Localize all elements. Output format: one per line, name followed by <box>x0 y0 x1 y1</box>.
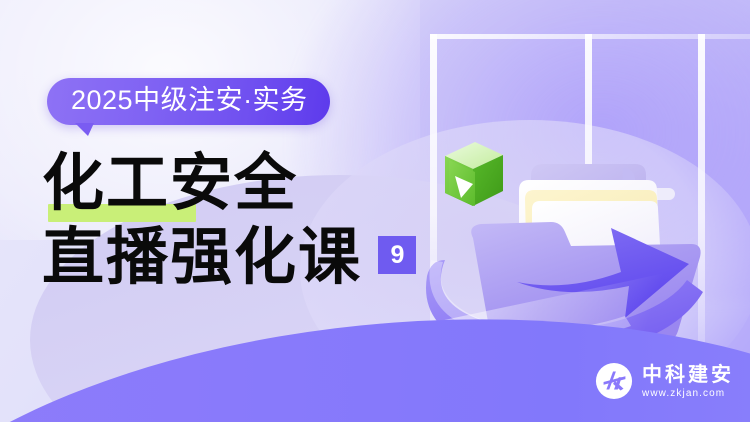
brand-logo-text: 中科建安 www.zkjan.com <box>642 364 734 399</box>
headline-block: 化工安全 直播强化课 9 <box>42 152 462 288</box>
episode-badge: 9 <box>378 236 416 274</box>
headline-row-1: 化工安全 <box>42 152 462 214</box>
course-illustration <box>415 110 735 345</box>
course-tag-label: 2025中级注安·实务 <box>71 85 308 115</box>
headline-line-2: 直播强化课 <box>42 226 362 288</box>
headline-row-2: 直播强化课 9 <box>42 226 462 288</box>
course-tag-pointer <box>75 123 94 136</box>
brand-logo[interactable]: 中科建安 www.zkjan.com <box>595 362 734 400</box>
course-tag-pill: 2025中级注安·实务 <box>47 78 330 125</box>
brand-url: www.zkjan.com <box>642 389 734 399</box>
brand-name: 中科建安 <box>642 364 734 384</box>
zk-monogram-icon <box>595 362 633 400</box>
course-promo-banner: 2025中级注安·实务 化工安全 直播强化课 9 中科建安 www.zkjan.… <box>0 0 750 422</box>
course-tag: 2025中级注安·实务 <box>47 78 330 125</box>
headline-line-1: 化工安全 <box>42 146 298 219</box>
